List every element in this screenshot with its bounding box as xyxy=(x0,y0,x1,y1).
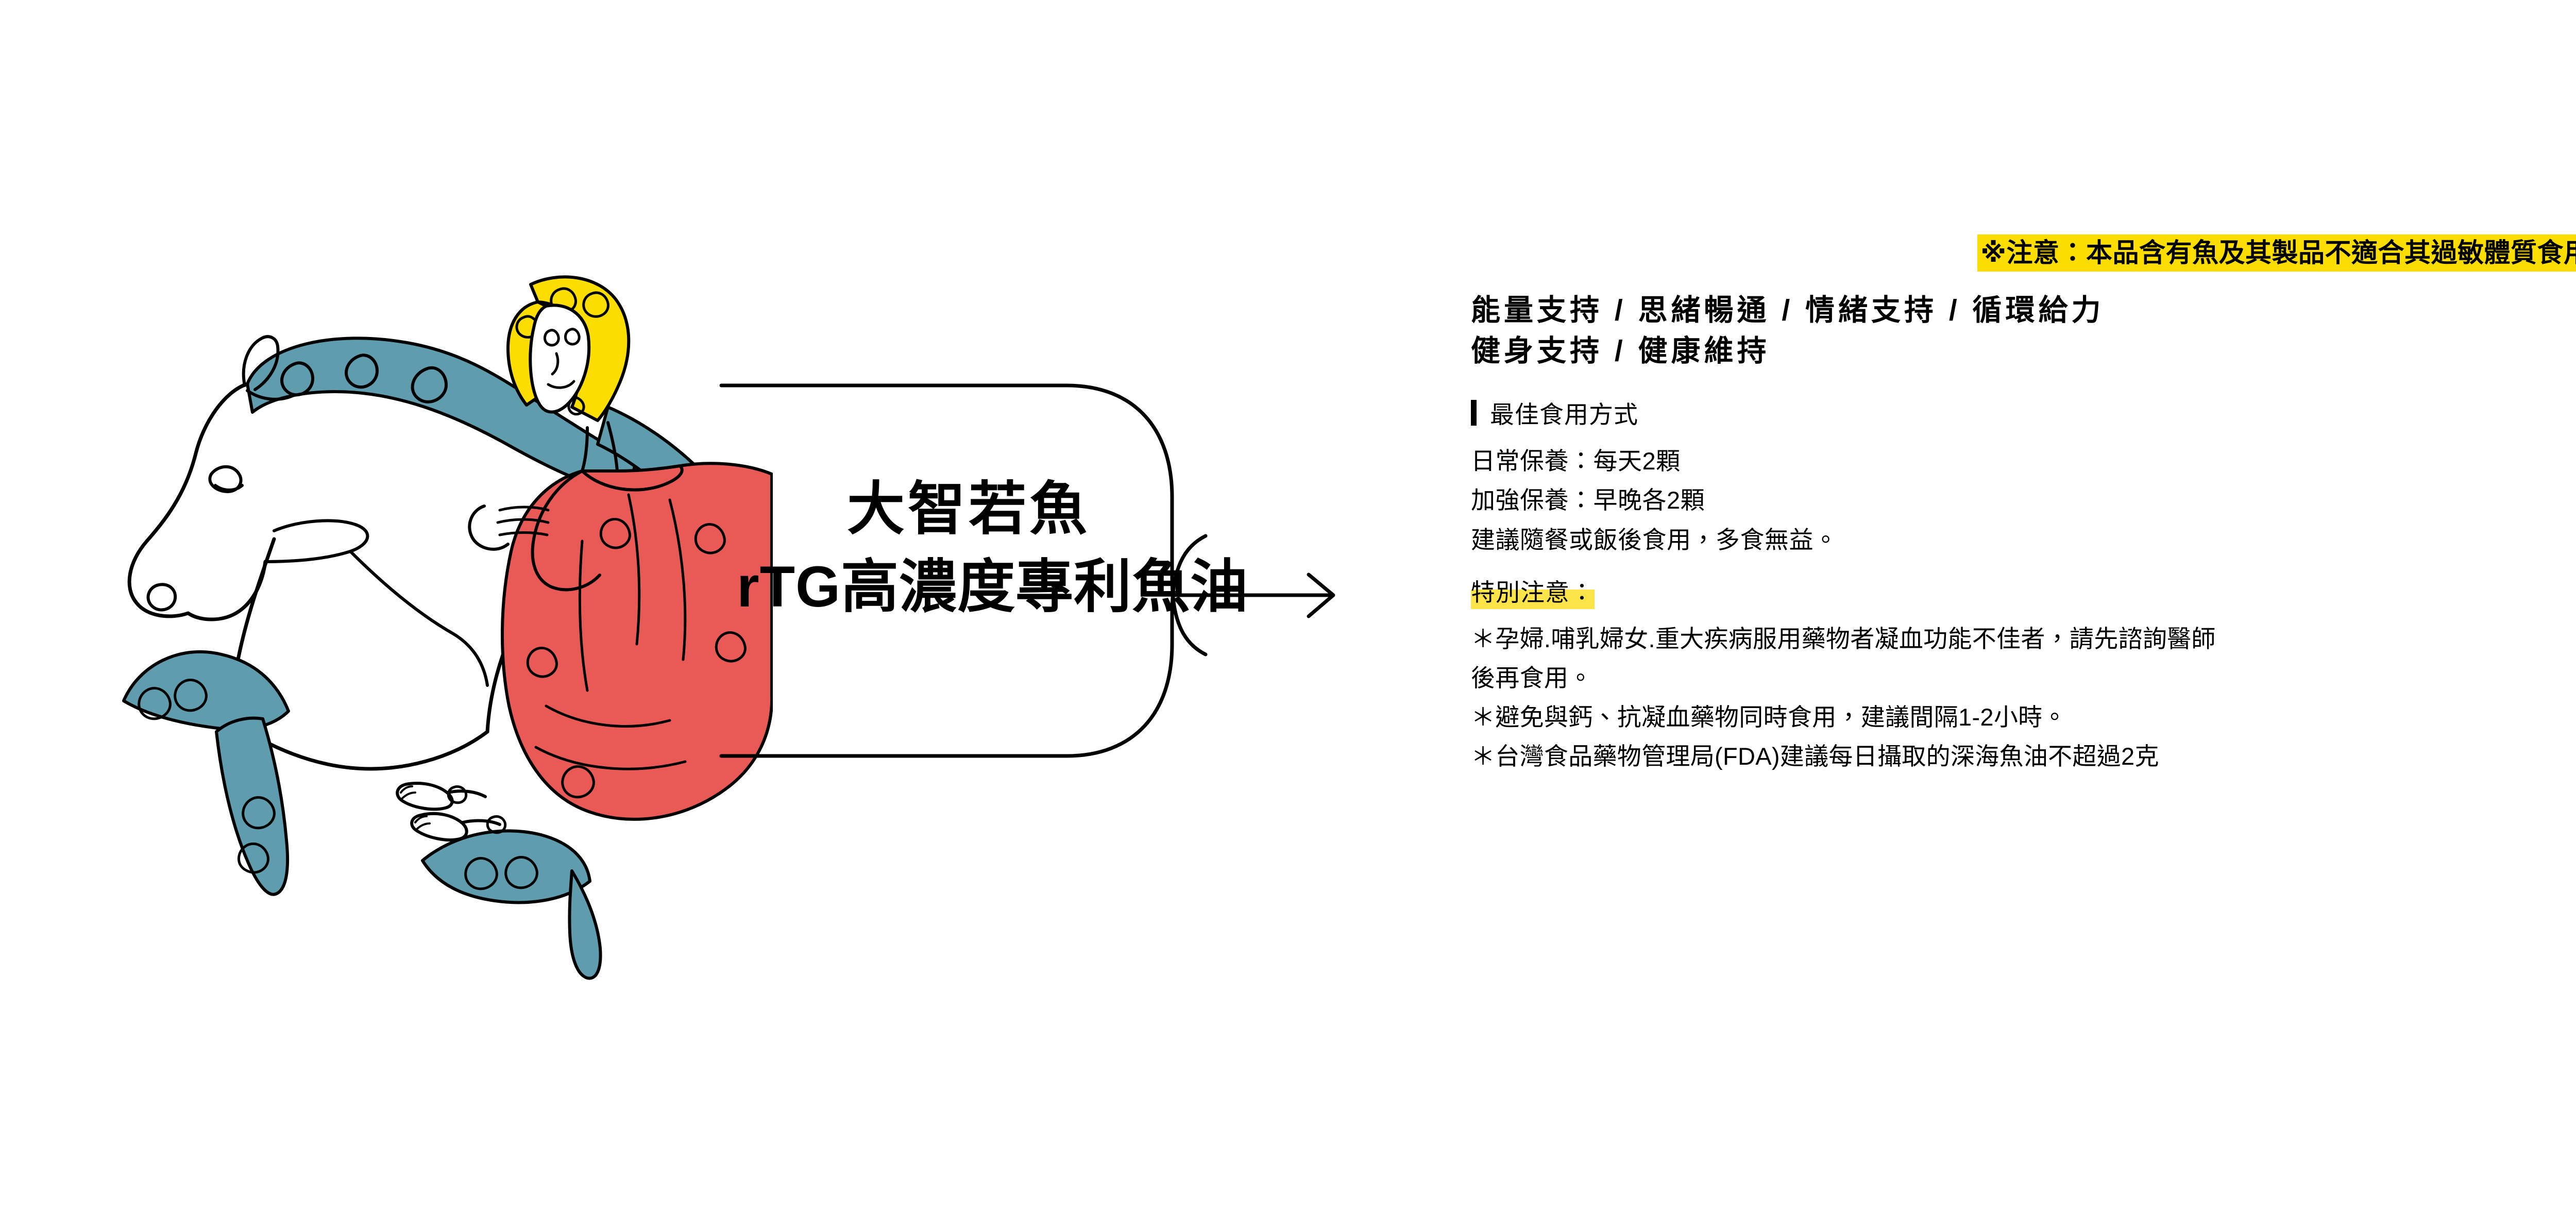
allergen-notice-banner: ※注意：本品含有魚及其製品不適合其過敏體質食用。 xyxy=(1977,234,2576,272)
note-line-1: ＊孕婦.哺乳婦女.重大疾病服用藥物者凝血功能不佳者，請先諮詢醫師 xyxy=(1471,619,2576,659)
product-info-page: 大智若魚 rTG高濃度專利魚油 ※注意：本品含有魚及其製品不適合其過敏體質食用。… xyxy=(0,0,2576,1229)
special-notes-list: ＊孕婦.哺乳婦女.重大疾病服用藥物者凝血功能不佳者，請先諮詢醫師 後再食用。 ＊… xyxy=(1471,619,2576,777)
fin-teal-lower-left xyxy=(216,718,287,895)
special-notice-label: 特別注意： xyxy=(1471,579,1595,606)
benefits-list: 能量支持 / 思緒暢通 / 情緒支持 / 循環給力 健身支持 / 健康維持 xyxy=(1471,290,2576,371)
benefit-line-2: 健身支持 / 健康維持 xyxy=(1471,331,2576,372)
note-line-3: ＊避免與鈣、抗凝血藥物同時食用，建議間隔1-2小時。 xyxy=(1471,698,2576,737)
info-panel: ※注意：本品含有魚及其製品不適合其過敏體質食用。 能量支持 / 思緒暢通 / 情… xyxy=(1471,234,2576,776)
note-line-4: ＊台灣食品藥物管理局(FDA)建議每日攝取的深海魚油不超過2克 xyxy=(1471,737,2576,776)
title-line-1: 大智若魚 xyxy=(737,474,1200,545)
note-line-2: 後再食用。 xyxy=(1471,659,2576,698)
title-line-2: rTG高濃度專利魚油 xyxy=(737,552,1200,622)
usage-heading-label: 最佳食用方式 xyxy=(1490,395,1638,430)
usage-line-2: 加強保養：早晚各2顆 xyxy=(1471,481,2576,520)
product-illustration xyxy=(93,252,773,989)
usage-line-1: 日常保養：每天2顆 xyxy=(1471,442,2576,481)
special-notice-heading: 特別注意： xyxy=(1471,573,1595,612)
horse-head-outline xyxy=(129,384,247,616)
product-title-text: 大智若魚 rTG高濃度專利魚油 xyxy=(737,474,1200,622)
allergen-notice-row: ※注意：本品含有魚及其製品不適合其過敏體質食用。 xyxy=(1471,234,2576,272)
usage-section-heading: 最佳食用方式 xyxy=(1471,395,2576,430)
benefit-line-1: 能量支持 / 思緒暢通 / 情緒支持 / 循環給力 xyxy=(1471,290,2576,331)
heading-accent-bar xyxy=(1471,400,1477,426)
usage-instructions: 日常保養：每天2顆 加強保養：早晚各2顆 建議隨餐或飯後食用，多食無益。 xyxy=(1471,442,2576,559)
product-title-block: 大智若魚 rTG高濃度專利魚油 xyxy=(706,356,1355,783)
usage-line-3: 建議隨餐或飯後食用，多食無益。 xyxy=(1471,520,2576,560)
